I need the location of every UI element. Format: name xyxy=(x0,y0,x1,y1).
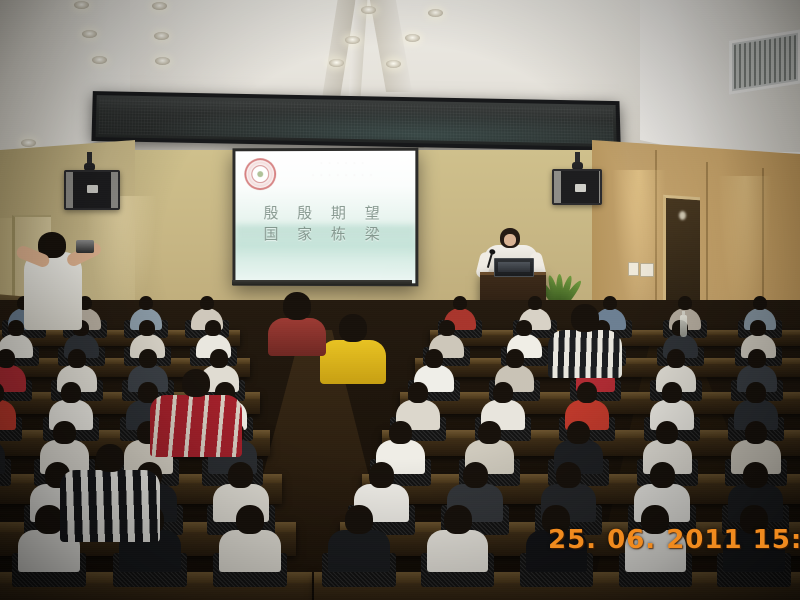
audience-member-head xyxy=(493,382,513,402)
emblem-seal-icon xyxy=(244,158,276,190)
audience-member-head xyxy=(182,369,210,397)
audience-member-head xyxy=(96,444,124,472)
audience-member-head xyxy=(408,382,428,402)
audience-member-head xyxy=(650,462,675,488)
audience-member-head xyxy=(745,421,767,444)
lecture-hall-photo: · · · · · · · · · · · · · · 殷 殷 期 望 国 家 … xyxy=(0,0,800,600)
slide-header-line-1: · · · · · · xyxy=(281,159,405,169)
led-banner-display xyxy=(91,91,620,151)
audience-member-head xyxy=(656,421,678,444)
projection-screen: · · · · · · · · · · · · · · 殷 殷 期 望 国 家 … xyxy=(232,148,418,287)
vent-louvers xyxy=(734,35,796,89)
audience-member-head xyxy=(750,320,766,336)
striped-shirt xyxy=(60,470,160,542)
yellow-shirt xyxy=(320,340,386,384)
downlight-icon xyxy=(152,2,167,10)
audience-member-head xyxy=(8,320,24,336)
audience-member-head xyxy=(753,296,767,311)
audience-member-head xyxy=(516,320,532,336)
audience-member-head xyxy=(444,505,472,534)
light-switch[interactable] xyxy=(628,262,639,276)
downlight-icon xyxy=(386,60,401,68)
audience-member-head xyxy=(228,462,253,488)
audience-member-head xyxy=(603,296,617,311)
audience-member-head xyxy=(506,349,524,367)
wall-speaker xyxy=(552,169,602,205)
audience-member-head xyxy=(743,462,768,488)
audience-member-head xyxy=(662,382,682,402)
audience-member-head xyxy=(567,421,589,444)
audience-member-head xyxy=(210,349,228,367)
audience-member-head xyxy=(283,292,311,320)
downlight-icon xyxy=(74,1,89,9)
slide-title-line-2: 国 家 栋 梁 xyxy=(235,224,415,245)
audience-member-head xyxy=(236,505,264,534)
audience-member-head xyxy=(577,382,597,402)
audience-member-head xyxy=(205,320,221,336)
downlight-icon xyxy=(361,6,376,14)
laptop xyxy=(494,258,534,277)
light-switch[interactable] xyxy=(640,263,654,277)
air-vent-grille-icon xyxy=(729,29,800,94)
audience-member-head xyxy=(61,382,81,402)
audience-member-head xyxy=(463,462,488,488)
audience-member-head xyxy=(478,421,500,444)
audience-member-torso xyxy=(427,530,489,572)
downlight-icon xyxy=(154,32,169,40)
door-light-reflection xyxy=(679,211,686,220)
audience-member-head xyxy=(556,462,581,488)
audience-member-head xyxy=(425,349,443,367)
water-bottle xyxy=(680,315,687,337)
striped-shirt xyxy=(548,330,622,378)
wall-speaker xyxy=(64,170,120,210)
audience-member-head xyxy=(748,349,766,367)
downlight-icon xyxy=(428,9,443,17)
audience-member-head xyxy=(439,320,455,336)
audience-member-head xyxy=(68,349,86,367)
audience-member-head xyxy=(345,505,373,534)
slide-title-line-1: 殷 殷 期 望 xyxy=(235,203,415,224)
compact-camera xyxy=(76,240,94,253)
audience-member-head xyxy=(528,296,542,311)
audience-member-head xyxy=(453,296,467,311)
screen-bottom-bar xyxy=(232,280,412,285)
audience-member-head xyxy=(53,421,75,444)
audience-member-head xyxy=(571,304,599,332)
audience-member-head xyxy=(746,382,766,402)
audience-member-head xyxy=(139,320,155,336)
slide-header-line-2: · · · · · · · · xyxy=(281,171,405,181)
audience-member-torso xyxy=(219,530,281,572)
audience-member-head xyxy=(667,349,685,367)
audience-member-head xyxy=(369,462,394,488)
audience-member-head xyxy=(0,349,15,367)
audience-member-head xyxy=(389,421,411,444)
red-striped-shirt xyxy=(268,318,326,356)
audience-member-head xyxy=(139,296,153,311)
projection-screen-surface: · · · · · · · · · · · · · · 殷 殷 期 望 国 家 … xyxy=(235,151,415,284)
audience-member-torso xyxy=(328,530,390,572)
audience-member-head xyxy=(339,314,367,342)
wall-wash-light xyxy=(612,170,666,320)
audience-member-head xyxy=(139,349,157,367)
ceiling-beam xyxy=(370,0,412,92)
audience-member-head xyxy=(200,296,214,311)
audience-member-head xyxy=(678,296,692,311)
presenter-face xyxy=(504,234,516,246)
camera-timestamp: 25. 06. 2011 15:08 xyxy=(548,525,800,555)
red-plaid-shirt xyxy=(150,395,242,457)
